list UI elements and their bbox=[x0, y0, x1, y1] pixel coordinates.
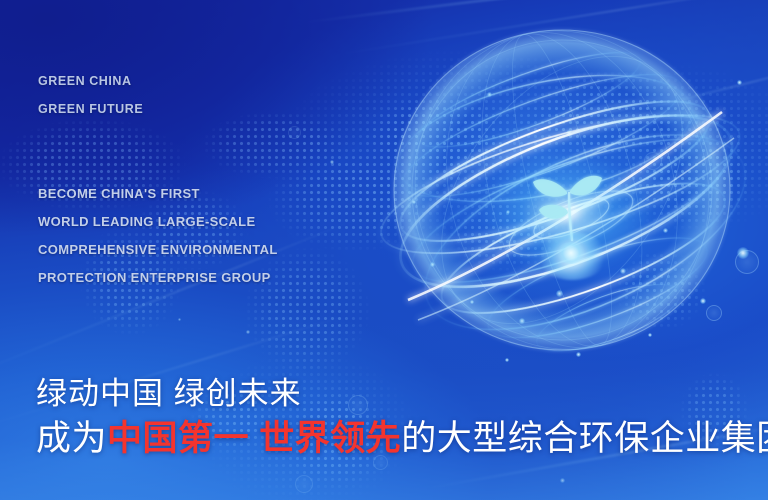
headline-chinese-line-2: 成为中国第一 世界领先的大型综合环保企业集团 bbox=[36, 410, 768, 461]
mission-line-1: BECOME CHINA'S FIRST bbox=[38, 186, 200, 201]
headline-suffix: 的大型综合环保企业集团 bbox=[401, 419, 768, 458]
tagline-line-2: GREEN FUTURE bbox=[38, 102, 143, 116]
mission-line-4: PROTECTION ENTERPRISE GROUP bbox=[38, 270, 271, 285]
headline-prefix: 成为 bbox=[36, 419, 107, 458]
text-content-layer: GREEN CHINA GREEN FUTURE BECOME CHINA'S … bbox=[0, 0, 768, 500]
headline-chinese-line-1: 绿动中国 绿创未来 bbox=[36, 368, 302, 413]
hero-banner: GREEN CHINA GREEN FUTURE BECOME CHINA'S … bbox=[0, 0, 768, 500]
headline-highlight: 中国第一 世界领先 bbox=[107, 419, 401, 458]
tagline-line-1: GREEN CHINA bbox=[38, 74, 132, 88]
mission-line-3: COMPREHENSIVE ENVIRONMENTAL bbox=[38, 242, 278, 257]
mission-line-2: WORLD LEADING LARGE-SCALE bbox=[38, 214, 255, 229]
